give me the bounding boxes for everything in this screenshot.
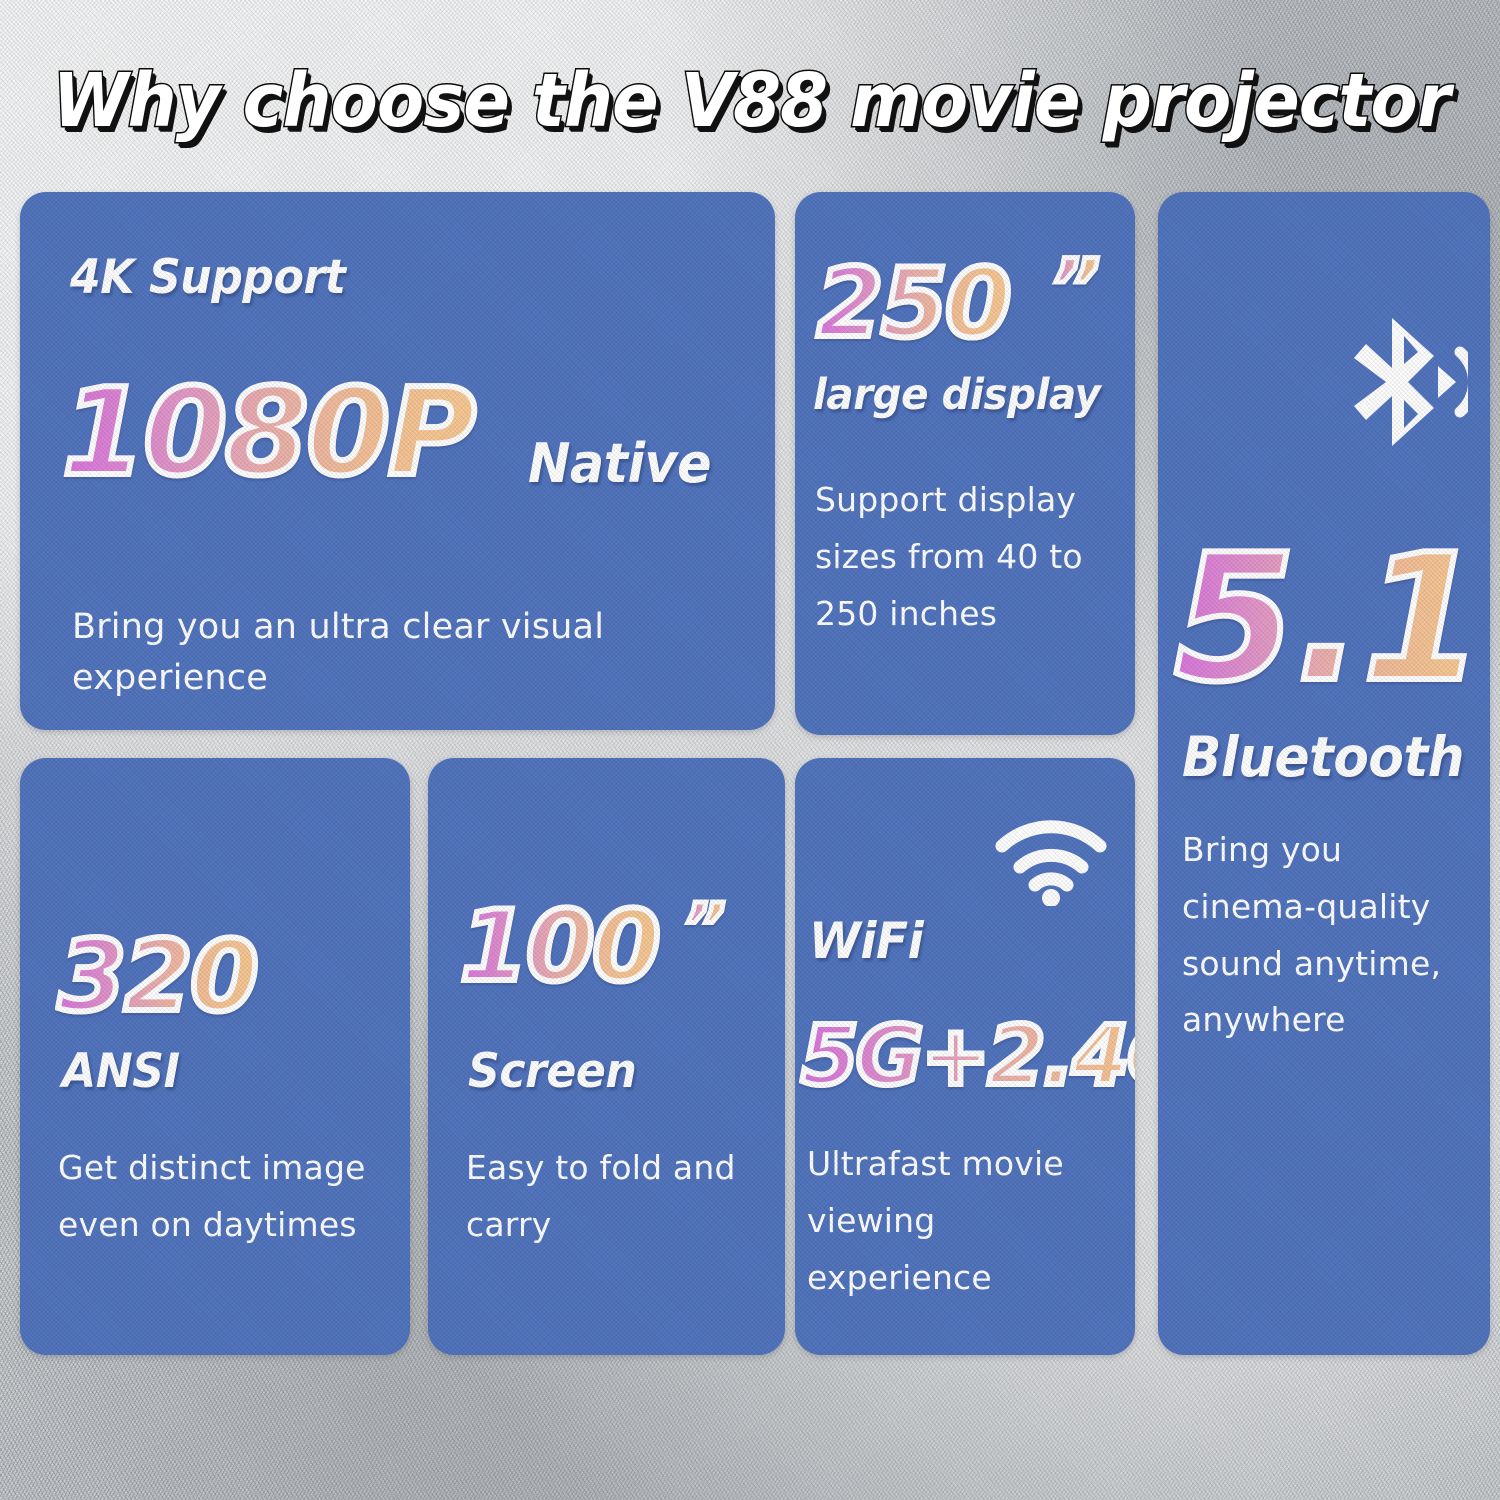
infographic-page: Why choose the V88 movie projector 4K Su… [0,0,1500,1500]
card-wifi-description: Ultrafast movie viewing experience [807,1136,1127,1306]
wifi-icon [995,816,1107,906]
card-wifi-heading: WiFi [809,916,923,966]
card-250-unit: ” [1050,250,1098,328]
card-ansi-description: Get distinct image even on daytimes [58,1140,398,1254]
card-1080p-description: Bring you an ultra clear visual experien… [72,602,762,704]
card-screen-unit: ” [683,895,724,961]
bluetooth-icon [1348,318,1468,450]
feature-card-bluetooth: 5.1 Bluetooth Bring you cinema-quality s… [1158,192,1490,1355]
card-screen-description: Easy to fold and carry [466,1140,766,1254]
feature-card-1080p: 4K Support 1080P Native Bring you an ult… [20,192,775,730]
card-bluetooth-description: Bring you cinema-quality sound anytime, … [1182,822,1482,1049]
card-screen-value: 100 [460,898,659,996]
page-title-container: Why choose the V88 movie projector [0,58,1500,144]
page-title: Why choose the V88 movie projector [53,58,1450,144]
card-1080p-heading: 4K Support [70,254,345,301]
card-1080p-value: 1080P [62,374,474,494]
card-250-description: Support display sizes from 40 to 250 inc… [815,472,1115,642]
card-bluetooth-subtitle: Bluetooth [1182,730,1464,785]
feature-card-screen: 100 ” Screen Easy to fold and carry [428,758,785,1355]
card-250-subtitle: large display [813,374,1100,417]
card-wifi-value: 5G+2.4G [801,1016,1135,1098]
card-1080p-value-suffix: Native [528,437,711,491]
card-ansi-subtitle: ANSI [62,1048,180,1095]
feature-card-ansi: 320 ANSI Get distinct image even on dayt… [20,758,410,1355]
card-250-value: 250 [817,257,1009,352]
card-screen-subtitle: Screen [468,1048,636,1095]
feature-card-wifi: WiFi 5G+2.4G Ultrafast movie viewing exp… [795,758,1135,1355]
card-ansi-value: 320 [58,928,257,1026]
card-bluetooth-value: 5.1 [1174,532,1484,707]
feature-card-250-inch: 250 ” large display Support display size… [795,192,1135,735]
